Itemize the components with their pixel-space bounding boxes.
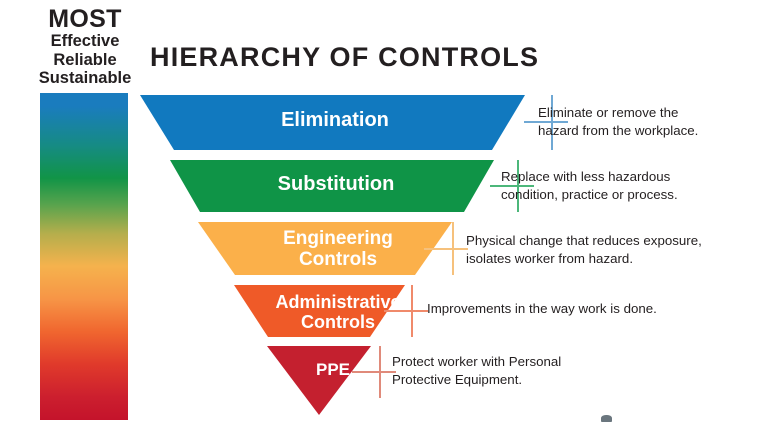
- page-title: HIERARCHY OF CONTROLS: [150, 42, 539, 73]
- description-ppe: Protect worker with Personal Protective …: [392, 353, 622, 388]
- description-substitution: Replace with less hazardous condition, p…: [501, 168, 736, 203]
- band-label-ppe: PPE: [268, 360, 398, 379]
- legend-line-3: Sustainable: [0, 69, 170, 88]
- description-engineering: Physical change that reduces exposure, i…: [466, 232, 751, 267]
- effectiveness-legend: MOST Effective Reliable Sustainable: [0, 6, 170, 88]
- cursor-artifact: [601, 415, 612, 422]
- hierarchy-of-controls-graphic: MOST Effective Reliable Sustainable HIER…: [0, 0, 768, 423]
- legend-line-1: Effective: [0, 32, 170, 51]
- band-ppe: [267, 346, 371, 415]
- band-label-substitution: Substitution: [168, 175, 504, 194]
- band-label-elimination: Elimination: [150, 111, 520, 130]
- band-label-engineering: Engineering Controls: [190, 228, 486, 270]
- legend-line-2: Reliable: [0, 51, 170, 70]
- description-elimination: Eliminate or remove the hazard from the …: [538, 104, 753, 139]
- description-administrative: Improvements in the way work is done.: [427, 300, 727, 318]
- legend-headline: MOST: [0, 6, 170, 32]
- effectiveness-gradient-bar: [40, 93, 128, 420]
- band-label-administrative: Administrative Controls: [218, 292, 458, 332]
